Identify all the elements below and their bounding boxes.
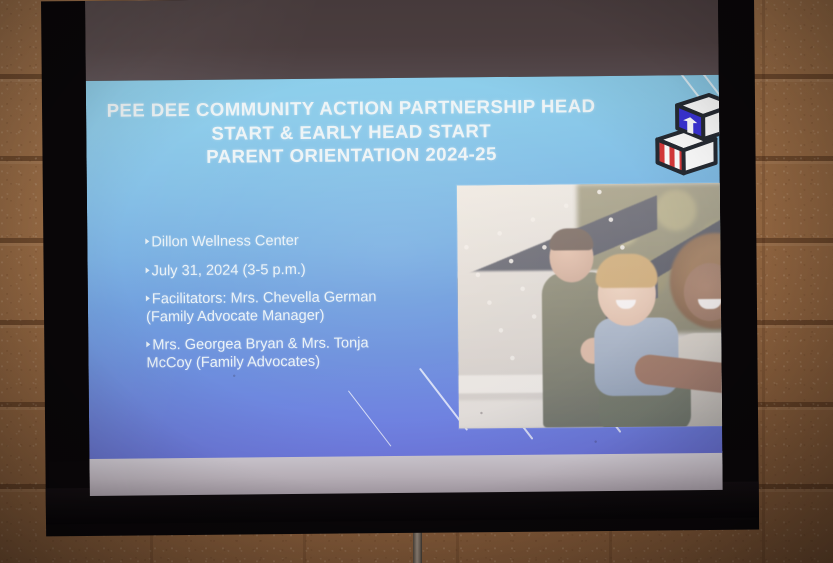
slide-bullet-list: Dillon Wellness Center July 31, 2024 (3-… <box>145 232 446 384</box>
list-item: Dillon Wellness Center <box>145 232 445 252</box>
bullet-text: July 31, 2024 (3-5 p.m.) <box>152 261 306 278</box>
bullet-triangle-icon <box>146 341 150 347</box>
bullet-text: Dillon Wellness Center <box>151 233 299 250</box>
list-item: July 31, 2024 (3-5 p.m.) <box>146 260 446 280</box>
family-photo <box>457 183 723 429</box>
presentation-slide: PEE DEE COMMUNITY ACTION PARTNERSHIP HEA… <box>86 75 723 459</box>
head-start-blocks-logo <box>653 87 723 180</box>
screen-projection-area: PEE DEE COMMUNITY ACTION PARTNERSHIP HEA… <box>85 0 723 496</box>
slide-title: PEE DEE COMMUNITY ACTION PARTNERSHIP HEA… <box>86 94 617 170</box>
blue-arrow-block-icon <box>677 95 722 140</box>
projector-room-scene: PEE DEE COMMUNITY ACTION PARTNERSHIP HEA… <box>0 0 833 563</box>
blocks-icon <box>653 87 723 180</box>
photo-child-hair <box>595 254 657 289</box>
bullet-text-continued: McCoy (Family Advocates) <box>146 352 446 372</box>
list-item: Facilitators: Mrs. Chevella German (Fami… <box>146 289 446 327</box>
bullet-text-continued: (Family Advocate Manager) <box>146 306 446 326</box>
bullet-text: Facilitators: Mrs. Chevella German <box>152 289 377 307</box>
list-item: Mrs. Georgea Bryan & Mrs. Tonja McCoy (F… <box>146 335 446 373</box>
slide-title-line-3: PARENT ORIENTATION 2024-25 <box>86 141 616 170</box>
photo-man-hair <box>549 228 593 250</box>
bullet-triangle-icon <box>146 295 150 301</box>
bullet-triangle-icon <box>145 238 149 244</box>
bullet-triangle-icon <box>146 267 150 273</box>
unlit-screen-band-top <box>85 0 719 81</box>
bullet-text: Mrs. Georgea Bryan & Mrs. Tonja <box>152 335 368 353</box>
projector-screen: PEE DEE COMMUNITY ACTION PARTNERSHIP HEA… <box>41 0 759 536</box>
